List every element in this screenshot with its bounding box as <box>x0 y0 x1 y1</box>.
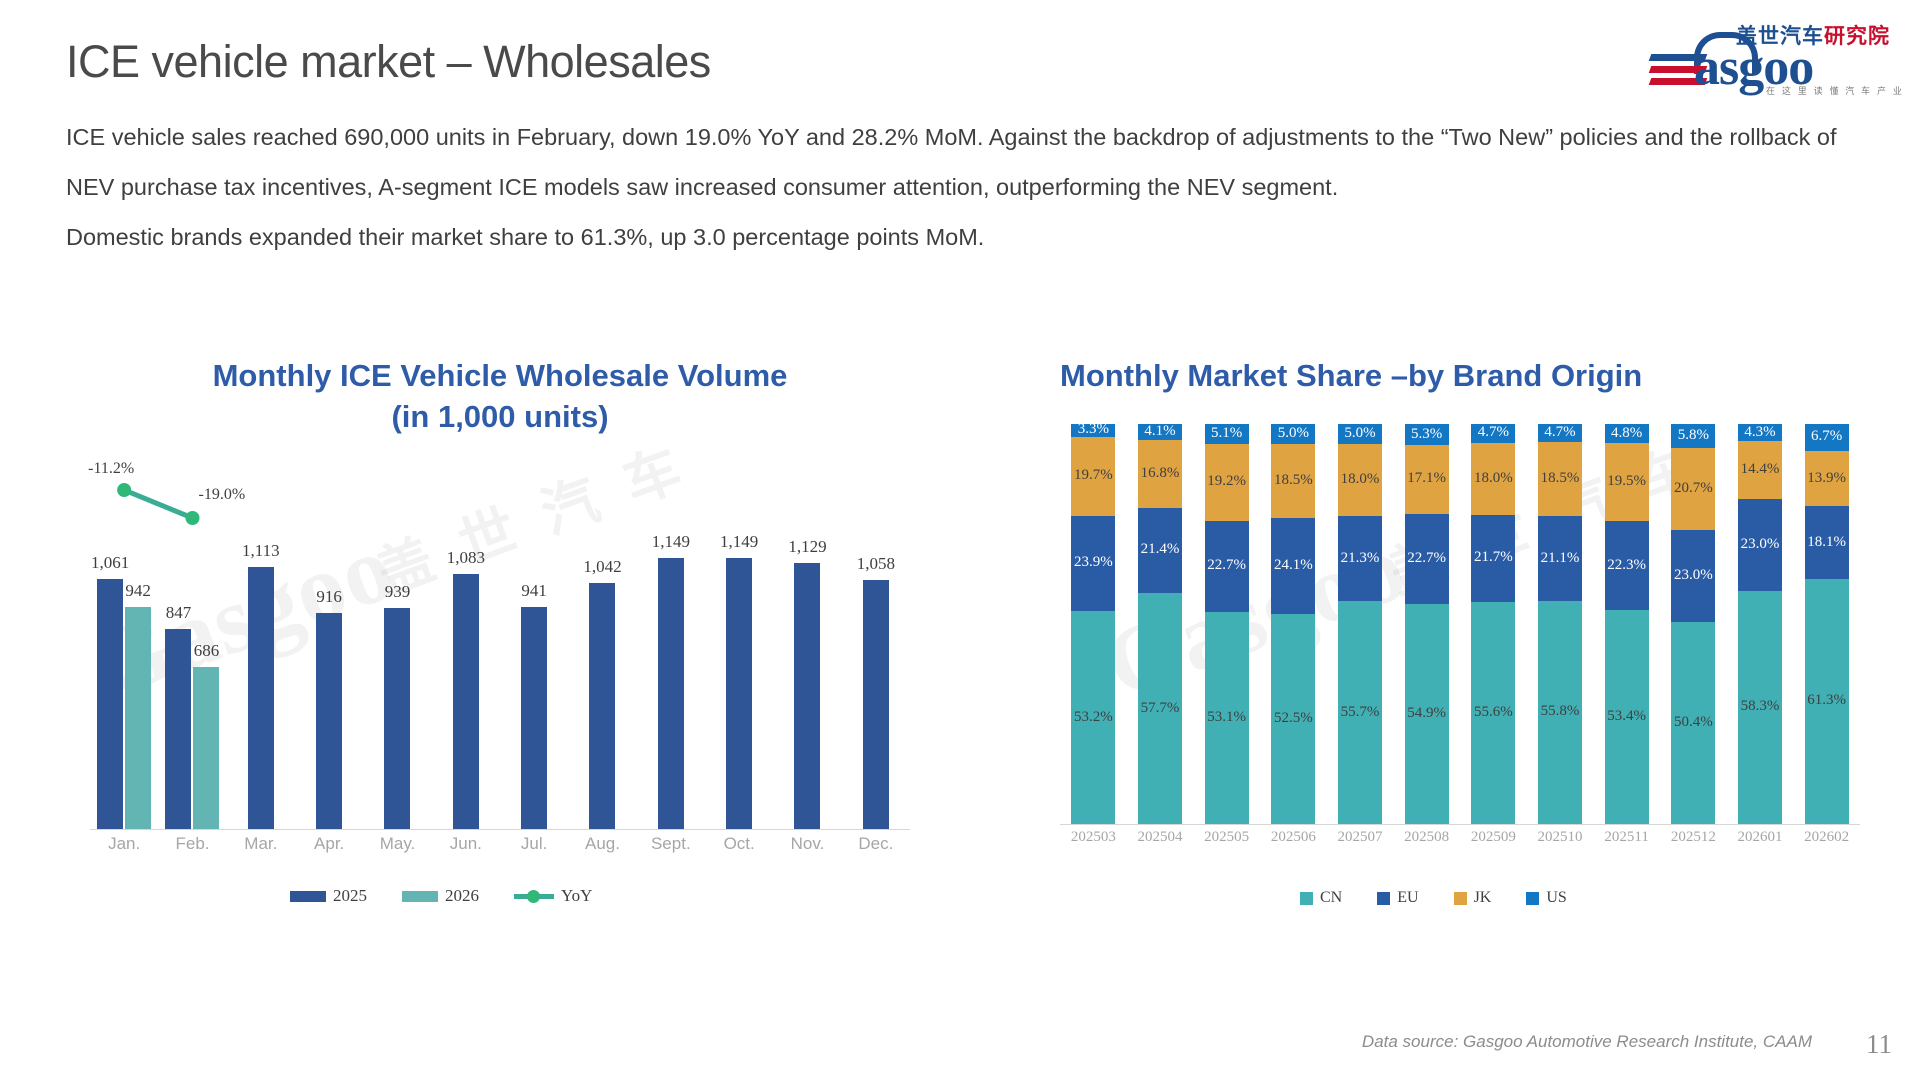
yoy-point-label: -19.0% <box>199 486 246 504</box>
monthly-ice-wholesale-volume-chart: 1,061942Jan.847686Feb.1,113Mar.916Apr.93… <box>90 430 910 850</box>
segment-label-us: 4.8% <box>1597 426 1657 441</box>
stacked-bar[interactable]: 53.4%22.3%19.5%4.8% <box>1605 424 1649 824</box>
segment-label-us: 5.0% <box>1263 426 1323 441</box>
bar-2025[interactable] <box>453 574 479 829</box>
segment-label-cn: 55.8% <box>1530 704 1590 719</box>
legend-item-2026[interactable]: 2026 <box>402 886 479 906</box>
segment-label-cn: 53.4% <box>1597 709 1657 724</box>
gasgoo-logo: 盖世汽车研究院 asgoo 在 这 里 读 懂 汽 车 产 业 <box>1648 18 1898 96</box>
legend-swatch-cn <box>1300 892 1313 905</box>
segment-label-eu: 18.1% <box>1797 535 1857 550</box>
stacked-bar[interactable]: 50.4%23.0%20.7%5.8% <box>1671 424 1715 824</box>
segment-label-eu: 21.1% <box>1530 551 1590 566</box>
x-axis-label: 202512 <box>1660 829 1726 846</box>
stacked-bar[interactable]: 53.2%23.9%19.7%3.3% <box>1071 424 1115 824</box>
x-axis-label: 202503 <box>1060 829 1126 846</box>
segment-label-jk: 18.5% <box>1530 471 1590 486</box>
stacked-bar[interactable]: 57.7%21.4%16.8%4.1% <box>1138 424 1182 824</box>
bar-value-label-2025: 1,061 <box>84 553 136 573</box>
stacked-bar[interactable]: 54.9%22.7%17.1%5.3% <box>1405 424 1449 824</box>
bar-value-label-2026: 686 <box>180 641 232 661</box>
segment-label-jk: 18.0% <box>1463 471 1523 486</box>
legend-item-us[interactable]: US <box>1526 889 1566 907</box>
segment-label-eu: 21.7% <box>1463 550 1523 565</box>
x-axis-label: Nov. <box>773 834 843 854</box>
segment-label-cn: 55.6% <box>1463 705 1523 720</box>
right-chart-legend: CN EU JK US <box>1300 889 1589 907</box>
bar-group: 1,129 <box>773 499 841 829</box>
x-axis-label: 202601 <box>1727 829 1793 846</box>
segment-label-us: 6.7% <box>1797 429 1857 444</box>
bar-value-label-2025: 1,083 <box>440 548 492 568</box>
segment-label-jk: 20.7% <box>1663 481 1723 496</box>
right-chart-title: Monthly Market Share –by Brand Origin <box>1060 355 1860 396</box>
x-axis-label: Apr. <box>294 834 364 854</box>
legend-item-eu[interactable]: EU <box>1377 889 1418 907</box>
bar-2026[interactable] <box>125 607 151 829</box>
segment-label-us: 3.3% <box>1063 422 1123 437</box>
legend-label-2025: 2025 <box>333 886 367 906</box>
stacked-bar[interactable]: 55.7%21.3%18.0%5.0% <box>1338 424 1382 824</box>
bar-group: 916 <box>295 499 363 829</box>
segment-label-us: 4.7% <box>1463 425 1523 440</box>
segment-label-eu: 21.4% <box>1130 542 1190 557</box>
bar-group: 1,113 <box>227 499 295 829</box>
intro-paragraph-1: ICE vehicle sales reached 690,000 units … <box>66 112 1856 212</box>
x-axis-label: 202508 <box>1394 829 1460 846</box>
x-axis-label: 202602 <box>1794 829 1860 846</box>
legend-label-eu: EU <box>1397 889 1418 907</box>
segment-label-cn: 55.7% <box>1330 705 1390 720</box>
segment-label-cn: 53.2% <box>1063 710 1123 725</box>
bar-value-label-2025: 916 <box>303 587 355 607</box>
legend-swatch-jk <box>1454 892 1467 905</box>
stacked-bar[interactable]: 55.8%21.1%18.5%4.7% <box>1538 424 1582 824</box>
legend-label-jk: JK <box>1474 889 1492 907</box>
segment-label-cn: 52.5% <box>1263 711 1323 726</box>
x-axis-label: Feb. <box>158 834 228 854</box>
legend-swatch-2026 <box>402 891 438 902</box>
x-axis-label: 202511 <box>1594 829 1660 846</box>
logo-cn-red: 研究院 <box>1824 24 1890 48</box>
left-chart-title: Monthly ICE Vehicle Wholesale Volume (in… <box>150 355 850 437</box>
segment-label-us: 5.3% <box>1397 427 1457 442</box>
bar-2025[interactable] <box>97 579 123 829</box>
legend-swatch-2025 <box>290 891 326 902</box>
segment-label-us: 4.1% <box>1130 424 1190 439</box>
segment-label-cn: 61.3% <box>1797 693 1857 708</box>
x-axis-label: 202510 <box>1527 829 1593 846</box>
legend-swatch-yoy <box>514 894 554 899</box>
logo-tagline: 在 这 里 读 懂 汽 车 产 业 <box>1766 84 1904 97</box>
segment-label-eu: 24.1% <box>1263 558 1323 573</box>
legend-label-yoy: YoY <box>561 886 592 906</box>
bar-group: 939 <box>363 499 431 829</box>
x-axis-label: 202509 <box>1460 829 1526 846</box>
segment-label-us: 5.8% <box>1663 428 1723 443</box>
segment-label-eu: 23.0% <box>1730 537 1790 552</box>
legend-item-cn[interactable]: CN <box>1300 889 1342 907</box>
page-number: 11 <box>1866 1029 1892 1060</box>
legend-item-2025[interactable]: 2025 <box>290 886 367 906</box>
x-axis-label: Jun. <box>431 834 501 854</box>
segment-label-jk: 13.9% <box>1797 471 1857 486</box>
bar-group: 1,149 <box>637 499 705 829</box>
data-source-note: Data source: Gasgoo Automotive Research … <box>1362 1032 1812 1052</box>
bar-value-label-2025: 1,149 <box>713 532 765 552</box>
bar-group: 847686 <box>158 499 226 829</box>
x-axis-label: Dec. <box>841 834 911 854</box>
segment-label-eu: 22.3% <box>1597 558 1657 573</box>
bar-2025[interactable] <box>521 607 547 829</box>
bar-group: 1,061942 <box>90 499 158 829</box>
stacked-bar[interactable]: 52.5%24.1%18.5%5.0% <box>1271 424 1315 824</box>
segment-label-jk: 19.7% <box>1063 468 1123 483</box>
x-axis-label: May. <box>363 834 433 854</box>
legend-swatch-us <box>1526 892 1539 905</box>
x-axis-label: Jul. <box>499 834 569 854</box>
segment-label-jk: 16.8% <box>1130 466 1190 481</box>
bar-value-label-2025: 1,058 <box>850 554 902 574</box>
segment-label-eu: 22.7% <box>1197 558 1257 573</box>
legend-item-jk[interactable]: JK <box>1454 889 1492 907</box>
x-axis-label: Aug. <box>568 834 638 854</box>
bar-group: 1,042 <box>568 499 636 829</box>
segment-label-us: 5.1% <box>1197 426 1257 441</box>
bar-value-label-2025: 1,129 <box>781 537 833 557</box>
segment-label-cn: 54.9% <box>1397 706 1457 721</box>
segment-label-cn: 50.4% <box>1663 715 1723 730</box>
segment-label-cn: 58.3% <box>1730 699 1790 714</box>
segment-label-jk: 19.2% <box>1197 474 1257 489</box>
bar-value-label-2025: 1,113 <box>235 541 287 561</box>
bar-value-label-2025: 1,149 <box>645 532 697 552</box>
bar-value-label-2025: 1,042 <box>576 557 628 577</box>
legend-label-2026: 2026 <box>445 886 479 906</box>
bar-value-label-2025: 941 <box>508 581 560 601</box>
bar-2025[interactable] <box>248 567 274 829</box>
left-chart-title-line1: Monthly ICE Vehicle Wholesale Volume <box>150 355 850 396</box>
bar-2025[interactable] <box>726 558 752 829</box>
segment-label-cn: 53.1% <box>1197 710 1257 725</box>
stacked-bar[interactable]: 61.3%18.1%13.9%6.7% <box>1805 424 1849 824</box>
bar-group: 1,149 <box>705 499 773 829</box>
segment-label-jk: 19.5% <box>1597 474 1657 489</box>
bar-2025[interactable] <box>316 613 342 829</box>
x-axis-label: 202507 <box>1327 829 1393 846</box>
right-x-axis <box>1060 824 1860 825</box>
stacked-bar[interactable]: 55.6%21.7%18.0%4.7% <box>1471 424 1515 824</box>
bar-2025[interactable] <box>658 558 684 829</box>
segment-label-jk: 14.4% <box>1730 462 1790 477</box>
segment-label-us: 5.0% <box>1330 426 1390 441</box>
segment-label-jk: 18.5% <box>1263 473 1323 488</box>
segment-label-us: 4.7% <box>1530 425 1590 440</box>
x-axis-label: 202506 <box>1260 829 1326 846</box>
segment-label-eu: 23.0% <box>1663 568 1723 583</box>
bar-value-label-2025: 847 <box>153 603 205 623</box>
monthly-market-share-by-brand-origin-chart: 53.2%23.9%19.7%3.3%20250357.7%21.4%16.8%… <box>1060 425 1860 845</box>
x-axis-label: Jan. <box>89 834 159 854</box>
legend-label-us: US <box>1546 889 1566 907</box>
segment-label-eu: 21.3% <box>1330 551 1390 566</box>
stacked-bar[interactable]: 58.3%23.0%14.4%4.3% <box>1738 424 1782 824</box>
segment-label-jk: 17.1% <box>1397 471 1457 486</box>
left-plot-area: 1,061942Jan.847686Feb.1,113Mar.916Apr.93… <box>90 430 910 830</box>
segment-label-eu: 22.7% <box>1397 551 1457 566</box>
legend-label-cn: CN <box>1320 889 1342 907</box>
bar-2025[interactable] <box>863 580 889 829</box>
bar-2025[interactable] <box>794 563 820 829</box>
left-chart-legend: 2025 2026 YoY <box>290 886 614 906</box>
segment-label-eu: 23.9% <box>1063 555 1123 570</box>
bar-2025[interactable] <box>589 583 615 829</box>
yoy-point-label: -11.2% <box>88 460 134 478</box>
right-plot-area: 53.2%23.9%19.7%3.3%20250357.7%21.4%16.8%… <box>1060 425 1860 825</box>
bar-group: 1,058 <box>842 499 910 829</box>
intro-paragraph-2: Domestic brands expanded their market sh… <box>66 212 1856 262</box>
bar-group: 941 <box>500 499 568 829</box>
intro-paragraphs: ICE vehicle sales reached 690,000 units … <box>66 112 1856 262</box>
page-title: ICE vehicle market – Wholesales <box>66 36 711 88</box>
segment-label-us: 4.3% <box>1730 425 1790 440</box>
bar-value-label-2025: 939 <box>371 582 423 602</box>
bar-2025[interactable] <box>384 608 410 829</box>
x-axis-label: Oct. <box>704 834 774 854</box>
bar-2026[interactable] <box>193 667 219 829</box>
legend-swatch-eu <box>1377 892 1390 905</box>
segment-label-jk: 18.0% <box>1330 472 1390 487</box>
stacked-bar[interactable]: 53.1%22.7%19.2%5.1% <box>1205 424 1249 824</box>
x-axis-label: 202504 <box>1127 829 1193 846</box>
x-axis-label: Sept. <box>636 834 706 854</box>
bar-group: 1,083 <box>432 499 500 829</box>
x-axis-label: Mar. <box>226 834 296 854</box>
x-axis-label: 202505 <box>1194 829 1260 846</box>
segment-label-cn: 57.7% <box>1130 701 1190 716</box>
bar-value-label-2026: 942 <box>112 581 164 601</box>
legend-item-yoy[interactable]: YoY <box>514 886 592 906</box>
